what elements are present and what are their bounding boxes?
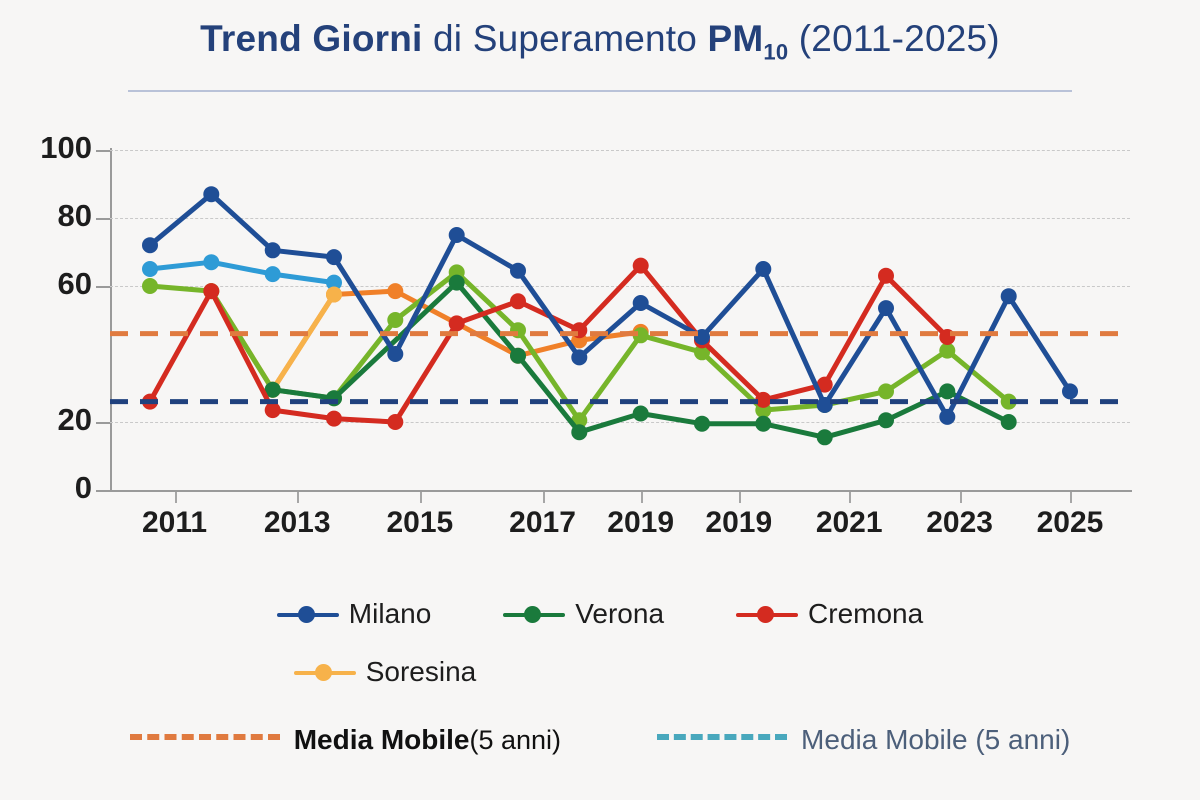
plot-area — [110, 150, 1130, 490]
data-point — [449, 275, 465, 291]
legend: MilanoVeronaCremona Soresina Media Mobil… — [0, 598, 1200, 756]
series-line — [150, 194, 1070, 417]
data-point — [694, 416, 710, 432]
legend-dot-icon — [298, 606, 315, 623]
x-tick-label: 2021 — [816, 506, 883, 540]
x-tick-mark — [297, 492, 299, 503]
data-point — [878, 300, 894, 316]
x-tick-mark — [420, 492, 422, 503]
data-point — [449, 315, 465, 331]
data-point — [326, 411, 342, 427]
y-tick-mark — [96, 490, 110, 492]
x-tick-labels-group: 201120132015201720192019202120232025 — [110, 492, 1132, 542]
y-tick-label: 0 — [0, 470, 92, 506]
title-pm-subscript: 10 — [763, 39, 788, 64]
data-point — [326, 287, 342, 303]
legend-row-reference: Media Mobile (5 anni)Media Mobile (5 ann… — [0, 724, 1200, 756]
data-point — [510, 293, 526, 309]
data-point — [878, 412, 894, 428]
data-point — [387, 283, 403, 299]
data-point — [755, 261, 771, 277]
y-tick-mark — [96, 422, 110, 424]
data-point — [878, 268, 894, 284]
legend-item-verona[interactable]: Verona — [503, 598, 664, 630]
x-tick-mark — [543, 492, 545, 503]
page-title: Trend Giorni di Superamento PM10 (2011-2… — [0, 18, 1200, 65]
legend-item-soresina[interactable]: Soresina — [294, 656, 477, 688]
legend-row-secondary: Soresina — [0, 656, 1200, 688]
x-tick-mark — [1070, 492, 1072, 503]
legend-label: Media Mobile (5 anni) — [801, 724, 1070, 756]
legend-label: Soresina — [366, 656, 477, 688]
y-tick-label: 60 — [0, 266, 92, 302]
x-tick-mark — [960, 492, 962, 503]
data-point — [571, 424, 587, 440]
data-point — [633, 258, 649, 274]
data-point — [939, 383, 955, 399]
y-tick-mark — [96, 150, 110, 152]
x-tick-label: 2013 — [264, 506, 331, 540]
legend-label-suffix: (5 anni) — [470, 725, 562, 756]
series-serie-arancio — [203, 283, 648, 398]
legend-dashed-line-icon — [657, 734, 787, 746]
title-mid-part: di Superamento — [423, 18, 708, 59]
data-point — [939, 409, 955, 425]
data-point — [142, 261, 158, 277]
data-point — [633, 406, 649, 422]
legend-label: Cremona — [808, 598, 923, 630]
legend-dot-icon — [524, 606, 541, 623]
y-tick-label: 100 — [0, 130, 92, 166]
legend-row-primary: MilanoVeronaCremona — [0, 598, 1200, 630]
title-pm-label: PM — [708, 18, 764, 59]
data-point — [387, 414, 403, 430]
x-tick-label: 2017 — [509, 506, 576, 540]
legend-marker-icon — [294, 661, 356, 683]
legend-marker-icon — [736, 603, 798, 625]
legend-marker-icon — [503, 603, 565, 625]
data-point — [1062, 383, 1078, 399]
data-point — [203, 186, 219, 202]
series-line — [273, 295, 334, 390]
legend-label: Media Mobile — [294, 724, 470, 756]
data-point — [326, 249, 342, 265]
data-point — [755, 416, 771, 432]
data-point — [571, 349, 587, 365]
x-tick-mark — [641, 492, 643, 503]
legend-item-media-mobile-2[interactable]: Media Mobile (5 anni) — [657, 724, 1070, 756]
data-point — [265, 242, 281, 258]
data-point — [633, 295, 649, 311]
title-year-range: (2011-2025) — [788, 18, 1000, 59]
data-point — [510, 263, 526, 279]
data-point — [878, 383, 894, 399]
data-point — [510, 348, 526, 364]
series-soresina — [265, 287, 342, 398]
y-tick-mark — [96, 218, 110, 220]
y-tick-label: 20 — [0, 402, 92, 438]
series-serie-azzurra — [142, 254, 342, 290]
legend-label: Milano — [349, 598, 431, 630]
data-point — [449, 227, 465, 243]
x-tick-label: 2011 — [142, 506, 207, 540]
y-tick-label: 80 — [0, 198, 92, 234]
legend-item-cremona[interactable]: Cremona — [736, 598, 923, 630]
x-tick-label: 2019 — [705, 506, 772, 540]
x-tick-mark — [739, 492, 741, 503]
legend-dashed-line-icon — [130, 734, 280, 746]
x-tick-mark — [849, 492, 851, 503]
legend-item-milano[interactable]: Milano — [277, 598, 431, 630]
data-point — [142, 278, 158, 294]
legend-item-media-mobile-1[interactable]: Media Mobile (5 anni) — [130, 724, 561, 756]
x-tick-label: 2015 — [386, 506, 453, 540]
data-point — [203, 283, 219, 299]
title-underline-rule — [128, 90, 1072, 92]
title-block: Trend Giorni di Superamento PM10 (2011-2… — [0, 18, 1200, 65]
y-tick-mark — [96, 286, 110, 288]
data-point — [1001, 288, 1017, 304]
series-line — [150, 262, 334, 282]
legend-label: Verona — [575, 598, 664, 630]
data-point — [1001, 414, 1017, 430]
data-point — [817, 429, 833, 445]
x-tick-mark — [175, 492, 177, 503]
data-point — [265, 266, 281, 282]
legend-dot-icon — [757, 606, 774, 623]
x-tick-label: 2023 — [926, 506, 993, 540]
legend-dot-icon — [315, 664, 332, 681]
data-point — [203, 254, 219, 270]
legend-marker-icon — [277, 603, 339, 625]
data-point — [142, 237, 158, 253]
data-point — [387, 346, 403, 362]
series-layer — [110, 150, 1130, 490]
x-tick-label: 2025 — [1037, 506, 1104, 540]
data-point — [387, 312, 403, 328]
x-tick-label: 2019 — [607, 506, 674, 540]
title-bold-part: Trend Giorni — [200, 18, 422, 59]
data-point — [265, 402, 281, 418]
